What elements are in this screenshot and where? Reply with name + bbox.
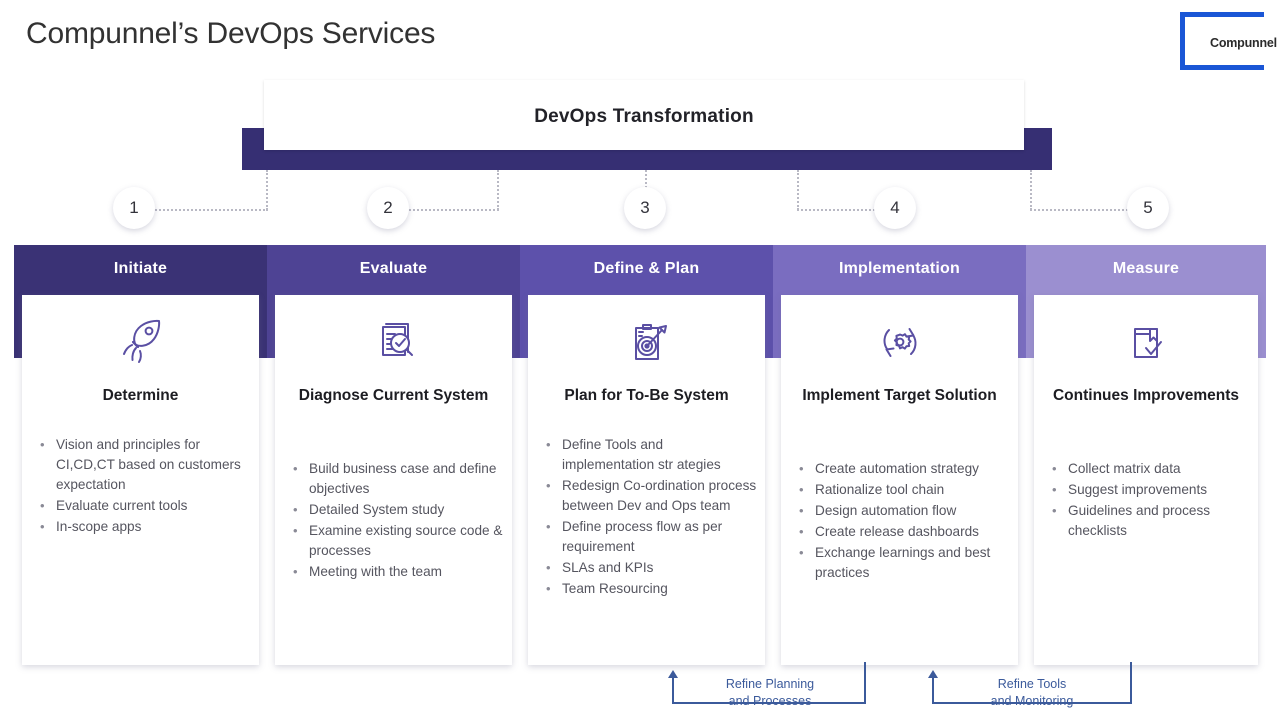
connector-vertical-3 [645, 170, 647, 188]
bullet-text: Define process flow as per requirement [562, 517, 757, 557]
gear-cycle-icon [781, 313, 1018, 371]
list-item: • Define Tools and implementation str at… [540, 435, 757, 475]
bullet-icon: • [1046, 480, 1068, 500]
clipboard-target-pencil-icon [528, 313, 765, 371]
bullet-icon: • [540, 517, 562, 557]
feedback-arrow-2-right-stem [1130, 662, 1132, 704]
step-number-1-label: 1 [129, 198, 138, 218]
banner-title: DevOps Transformation [264, 106, 1024, 128]
bullet-icon: • [540, 476, 562, 516]
card-heading-implement: Implement Target Solution [791, 385, 1008, 407]
bullet-icon: • [793, 459, 815, 479]
connector-horizontal-4 [797, 209, 879, 211]
phase-card-slot-initiate: Determine • Vision and principles for CI… [14, 295, 267, 665]
phase-card-slot-measure: Continues Improvements • Collect matrix … [1026, 295, 1266, 665]
list-item: • Redesign Co-ordination process between… [540, 476, 757, 516]
banner-box: DevOps Transformation [264, 80, 1024, 150]
bullet-icon: • [793, 543, 815, 583]
list-item: • Build business case and define objecti… [287, 459, 504, 499]
bullet-list-measure: • Collect matrix data • Suggest improvem… [1046, 459, 1250, 542]
phase-label-evaluate: Evaluate [267, 260, 520, 278]
step-number-2: 2 [367, 187, 409, 229]
bullet-icon: • [793, 501, 815, 521]
list-item: • SLAs and KPIs [540, 558, 757, 578]
list-item: • In-scope apps [34, 517, 251, 537]
bullet-text: Design automation flow [815, 501, 1010, 521]
bullet-icon: • [540, 435, 562, 475]
list-item: • Collect matrix data [1046, 459, 1250, 479]
connector-horizontal-5 [1030, 209, 1132, 211]
bullet-text: Create automation strategy [815, 459, 1010, 479]
document-check-magnifier-icon [275, 313, 512, 371]
bullet-icon: • [34, 435, 56, 495]
card-heading-plan: Plan for To-Be System [538, 385, 755, 407]
bullet-text: In-scope apps [56, 517, 251, 537]
card-heading-determine: Determine [32, 385, 249, 407]
phase-card-row: Determine • Vision and principles for CI… [14, 295, 1266, 665]
bullet-icon: • [540, 579, 562, 599]
connector-horizontal-1 [152, 209, 268, 211]
bullet-text: Meeting with the team [309, 562, 504, 582]
list-item: • Vision and principles for CI,CD,CT bas… [34, 435, 251, 495]
bullet-list-define-plan: • Define Tools and implementation str at… [540, 435, 757, 600]
bullet-text: Redesign Co-ordination process between D… [562, 476, 757, 516]
list-item: • Team Resourcing [540, 579, 757, 599]
phase-card-measure[interactable]: Continues Improvements • Collect matrix … [1034, 295, 1258, 665]
step-number-1: 1 [113, 187, 155, 229]
phase-card-initiate[interactable]: Determine • Vision and principles for CI… [22, 295, 259, 665]
phase-label-measure: Measure [1026, 260, 1266, 278]
bullet-list-initiate: • Vision and principles for CI,CD,CT bas… [34, 435, 251, 538]
list-item: • Evaluate current tools [34, 496, 251, 516]
connector-vertical-5 [1030, 170, 1032, 210]
feedback-arrow-2-head [928, 670, 938, 678]
connector-vertical-4 [797, 170, 799, 210]
compunnel-logo: Compunnel [1180, 10, 1276, 72]
bullet-list-evaluate: • Build business case and define objecti… [287, 459, 504, 583]
bullet-text: Team Resourcing [562, 579, 757, 599]
step-number-2-label: 2 [383, 198, 392, 218]
connector-vertical-1 [266, 170, 268, 210]
bullet-text: Examine existing source code & processes [309, 521, 504, 561]
feedback-arrow-2-left-stem [932, 678, 934, 704]
bullet-icon: • [1046, 459, 1068, 479]
bullet-icon: • [34, 496, 56, 516]
slide-canvas: Compunnel’s DevOps Services Compunnel De… [0, 0, 1280, 720]
list-item: • Meeting with the team [287, 562, 504, 582]
step-number-5-label: 5 [1143, 198, 1152, 218]
list-item: • Create automation strategy [793, 459, 1010, 479]
bullet-icon: • [287, 521, 309, 561]
card-heading-continues: Continues Improvements [1044, 385, 1248, 407]
step-number-4-label: 4 [890, 198, 899, 218]
list-item: • Define process flow as per requirement [540, 517, 757, 557]
feedback-arrow-1-right-stem [864, 662, 866, 704]
phase-card-slot-define-plan: Plan for To-Be System • Define Tools and… [520, 295, 773, 665]
bullet-text: Suggest improvements [1068, 480, 1250, 500]
bullet-icon: • [793, 480, 815, 500]
phase-label-implementation: Implementation [773, 260, 1026, 278]
book-check-icon [1034, 313, 1258, 371]
bullet-icon: • [287, 562, 309, 582]
feedback-arrow-1-left-stem [672, 678, 674, 704]
bullet-text: Detailed System study [309, 500, 504, 520]
list-item: • Suggest improvements [1046, 480, 1250, 500]
list-item: • Design automation flow [793, 501, 1010, 521]
list-item: • Examine existing source code & process… [287, 521, 504, 561]
bullet-icon: • [287, 500, 309, 520]
bullet-icon: • [34, 517, 56, 537]
bullet-text: Evaluate current tools [56, 496, 251, 516]
phase-label-define-plan: Define & Plan [520, 260, 773, 278]
list-item: • Exchange learnings and best practices [793, 543, 1010, 583]
phase-card-define-plan[interactable]: Plan for To-Be System • Define Tools and… [528, 295, 765, 665]
step-number-5: 5 [1127, 187, 1169, 229]
phase-card-slot-implementation: Implement Target Solution • Create autom… [773, 295, 1026, 665]
feedback-arrow-1-head [668, 670, 678, 678]
step-number-3: 3 [624, 187, 666, 229]
bullet-text: Vision and principles for CI,CD,CT based… [56, 435, 251, 495]
bullet-text: Build business case and define objective… [309, 459, 504, 499]
bullet-icon: • [1046, 501, 1068, 541]
bullet-text: SLAs and KPIs [562, 558, 757, 578]
rocket-icon [22, 313, 259, 371]
bullet-text: Collect matrix data [1068, 459, 1250, 479]
card-heading-diagnose: Diagnose Current System [285, 385, 502, 407]
bullet-icon: • [793, 522, 815, 542]
step-number-3-label: 3 [640, 198, 649, 218]
bullet-text: Rationalize tool chain [815, 480, 1010, 500]
list-item: • Guidelines and process checklists [1046, 501, 1250, 541]
bullet-text: Exchange learnings and best practices [815, 543, 1010, 583]
feedback-label-1: Refine Planning and Processes [700, 676, 840, 710]
logo-label: Compunnel [1208, 35, 1279, 51]
bullet-text: Create release dashboards [815, 522, 1010, 542]
connector-vertical-2 [497, 170, 499, 210]
step-number-4: 4 [874, 187, 916, 229]
list-item: • Create release dashboards [793, 522, 1010, 542]
list-item: • Detailed System study [287, 500, 504, 520]
phase-card-implementation[interactable]: Implement Target Solution • Create autom… [781, 295, 1018, 665]
phase-label-initiate: Initiate [14, 260, 267, 278]
bullet-text: Define Tools and implementation str ateg… [562, 435, 757, 475]
bullet-icon: • [287, 459, 309, 499]
page-title: Compunnel’s DevOps Services [26, 17, 435, 51]
phase-card-evaluate[interactable]: Diagnose Current System • Build business… [275, 295, 512, 665]
bullet-icon: • [540, 558, 562, 578]
bullet-text: Guidelines and process checklists [1068, 501, 1250, 541]
connector-horizontal-2 [406, 209, 499, 211]
phase-card-slot-evaluate: Diagnose Current System • Build business… [267, 295, 520, 665]
feedback-label-2: Refine Tools and Monitoring [962, 676, 1102, 710]
bullet-list-implementation: • Create automation strategy • Rationali… [793, 459, 1010, 584]
list-item: • Rationalize tool chain [793, 480, 1010, 500]
